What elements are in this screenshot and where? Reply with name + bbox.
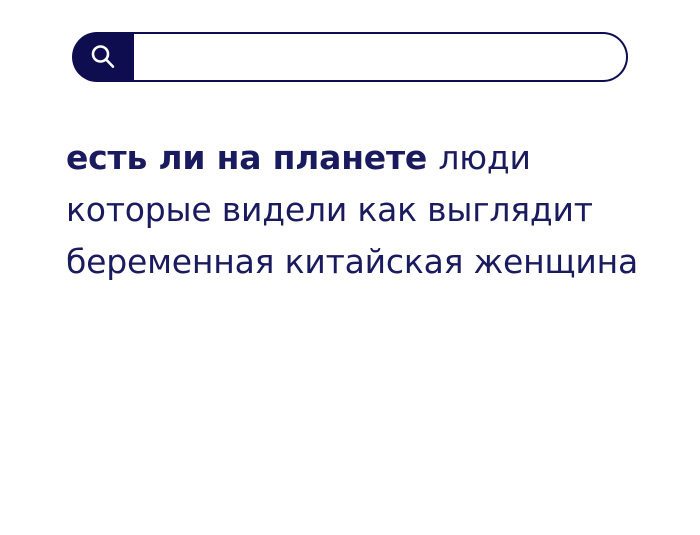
search-icon-button[interactable]	[72, 32, 134, 82]
query-text: есть ли на планете люди которые видели к…	[66, 132, 666, 288]
search-field[interactable]	[134, 32, 628, 82]
search-bar[interactable]	[72, 32, 628, 82]
search-icon	[88, 42, 118, 72]
page-root: есть ли на планете люди которые видели к…	[0, 0, 700, 535]
query-emphasis: есть ли на планете	[66, 138, 438, 177]
